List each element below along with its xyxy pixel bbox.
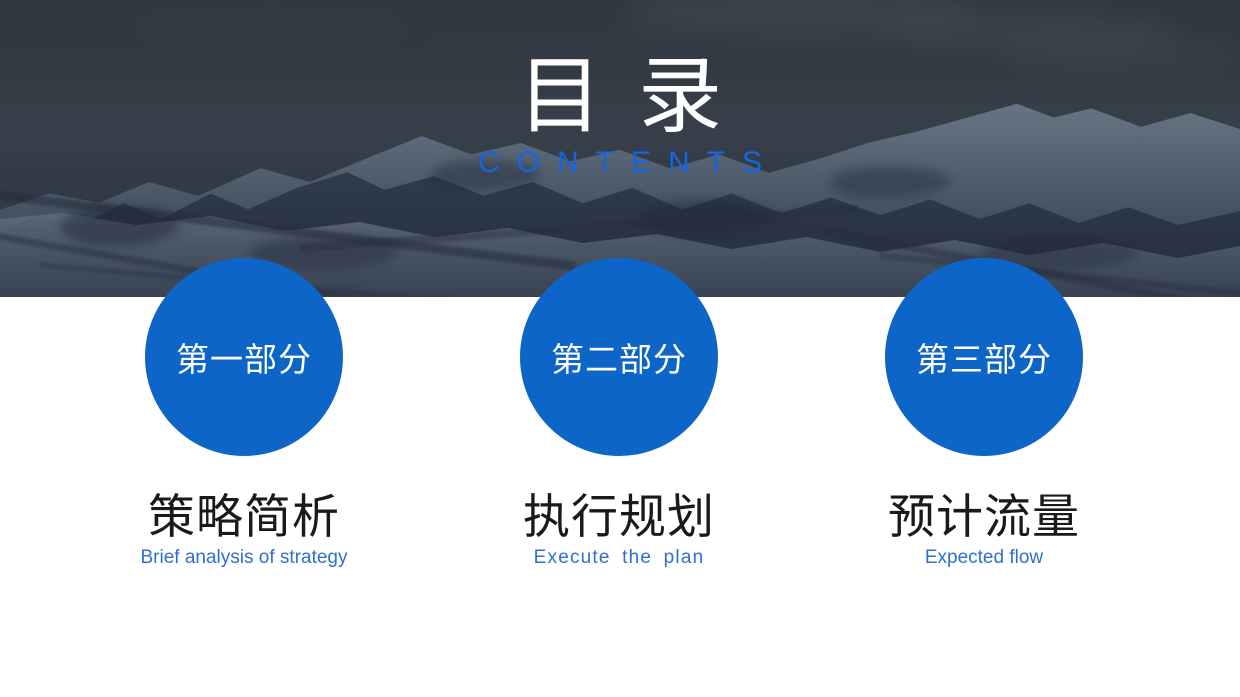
section-title-cn-2: 执行规划 — [469, 494, 769, 543]
section-caption-3: 预计流量 Expected flow — [834, 494, 1134, 570]
section-title-cn-3: 预计流量 — [834, 494, 1134, 543]
section-caption-2: 执行规划 Execute the plan — [469, 494, 769, 570]
section-badge-label-1: 第一部分 — [176, 333, 312, 381]
section-caption-1: 策略简析 Brief analysis of strategy — [94, 494, 394, 570]
section-item-2[interactable]: 第二部分 执行规划 Execute the plan — [469, 258, 769, 570]
section-badge-label-2: 第二部分 — [551, 333, 687, 381]
sections-row: 第一部分 策略简析 Brief analysis of strategy 第二部… — [0, 0, 1240, 697]
section-title-cn-1: 策略简析 — [94, 494, 394, 543]
section-badge-circle-2[interactable]: 第二部分 — [520, 258, 718, 456]
section-badge-circle-1[interactable]: 第一部分 — [145, 258, 343, 456]
section-item-3[interactable]: 第三部分 预计流量 Expected flow — [834, 258, 1134, 570]
section-item-1[interactable]: 第一部分 策略简析 Brief analysis of strategy — [94, 258, 394, 570]
section-title-en-3: Expected flow — [834, 547, 1134, 570]
section-title-en-1: Brief analysis of strategy — [94, 547, 394, 570]
contents-slide: 目录 CONTENTS 第一部分 策略简析 Brief analysis of … — [0, 0, 1240, 697]
section-title-en-2: Execute the plan — [469, 547, 769, 570]
section-badge-circle-3[interactable]: 第三部分 — [885, 258, 1083, 456]
section-badge-label-3: 第三部分 — [916, 333, 1052, 381]
